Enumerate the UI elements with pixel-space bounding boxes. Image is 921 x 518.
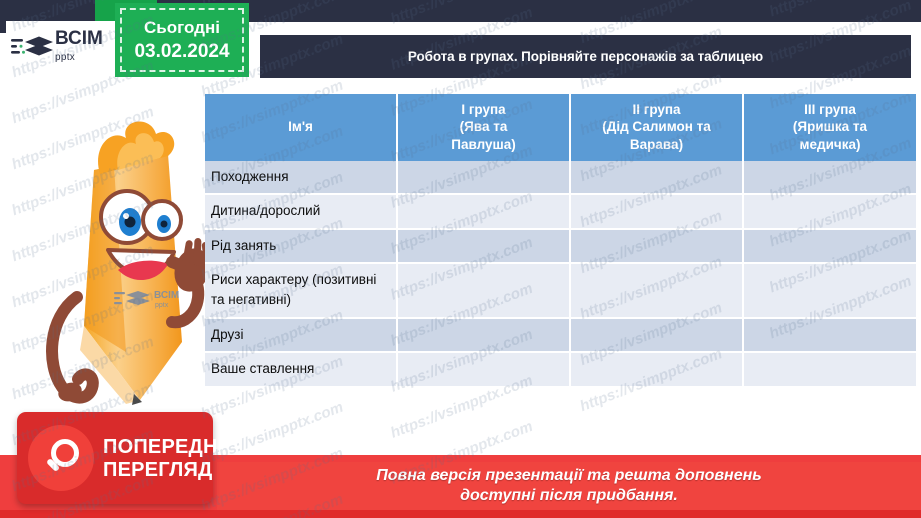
table-col-header-group-3: III група (Яришка та медичка) <box>743 94 916 161</box>
table-row: Риси характеру (позитивні та негативні) <box>205 263 916 317</box>
table-cell[interactable] <box>397 352 570 387</box>
table-row-label: Походження <box>205 161 397 195</box>
table-cell[interactable] <box>397 161 570 195</box>
table-cell[interactable] <box>743 263 916 317</box>
table-cell[interactable] <box>570 161 743 195</box>
brand-logo-subtitle: pptx <box>55 52 75 63</box>
today-label: Сьогодні <box>144 18 220 38</box>
table-col-header-name: Ім'я <box>205 94 397 161</box>
today-badge: Сьогодні 03.02.2024 <box>115 3 249 77</box>
footer-line-1: Повна версія презентації та решта доповн… <box>376 466 762 486</box>
table-header-row: Ім'я I група (Ява та Павлуша) II група (… <box>205 94 916 161</box>
page-title: Робота в групах. Порівняйте персонажів з… <box>408 49 763 64</box>
magnifier-icon <box>28 425 94 491</box>
footer-bottom-strip <box>0 510 921 518</box>
table-cell[interactable] <box>570 318 743 353</box>
table-cell[interactable] <box>397 318 570 353</box>
table-row-label: Ваше ставлення <box>205 352 397 387</box>
pencil-mascot: ВСІМ pptx <box>22 112 218 408</box>
table-row: Друзі <box>205 318 916 353</box>
table-cell[interactable] <box>743 194 916 229</box>
table-row: Дитина/дорослий <box>205 194 916 229</box>
table-row: Ваше ставлення <box>205 352 916 387</box>
table-row: Рід занять <box>205 229 916 264</box>
slide-canvas: ВСІМ pptx Сьогодні 03.02.2024 Робота в г… <box>0 0 921 518</box>
table-row-label: Дитина/дорослий <box>205 194 397 229</box>
brand-logo-title: ВСІМ <box>55 28 103 49</box>
slide-title-bar: Робота в групах. Порівняйте персонажів з… <box>258 33 913 80</box>
table-cell[interactable] <box>397 229 570 264</box>
table-row: Походження <box>205 161 916 195</box>
preview-badge: ПОПЕРЕДНІЙ ПЕРЕГЛЯД <box>17 412 213 504</box>
table-cell[interactable] <box>743 352 916 387</box>
svg-text:pptx: pptx <box>155 302 169 309</box>
table-cell[interactable] <box>570 352 743 387</box>
table-cell[interactable] <box>397 263 570 317</box>
table-row-label: Друзі <box>205 318 397 353</box>
table-row-label: Риси характеру (позитивні та негативні) <box>205 263 397 317</box>
svg-text:ВСІМ: ВСІМ <box>154 290 179 301</box>
brand-logo: ВСІМ pptx <box>6 21 118 72</box>
today-date: 03.02.2024 <box>134 41 229 63</box>
table-cell[interactable] <box>570 263 743 317</box>
table-col-header-group-2: II група (Дід Салимон та Варава) <box>570 94 743 161</box>
graduation-cap-icon <box>10 31 54 63</box>
table-cell[interactable] <box>397 194 570 229</box>
footer-line-2: доступні після придбання. <box>460 486 678 506</box>
table-cell[interactable] <box>743 318 916 353</box>
footer-message: Повна версія презентації та решта доповн… <box>217 462 921 510</box>
preview-badge-line-1: ПОПЕРЕДНІЙ <box>103 436 238 458</box>
table-cell[interactable] <box>570 194 743 229</box>
table-cell[interactable] <box>570 229 743 264</box>
preview-badge-line-2: ПЕРЕГЛЯД <box>103 460 238 480</box>
table-col-header-group-1: I група (Ява та Павлуша) <box>397 94 570 161</box>
comparison-table: Ім'я I група (Ява та Павлуша) II група (… <box>205 94 916 388</box>
table-row-label: Рід занять <box>205 229 397 264</box>
table-cell[interactable] <box>743 229 916 264</box>
table-cell[interactable] <box>743 161 916 195</box>
